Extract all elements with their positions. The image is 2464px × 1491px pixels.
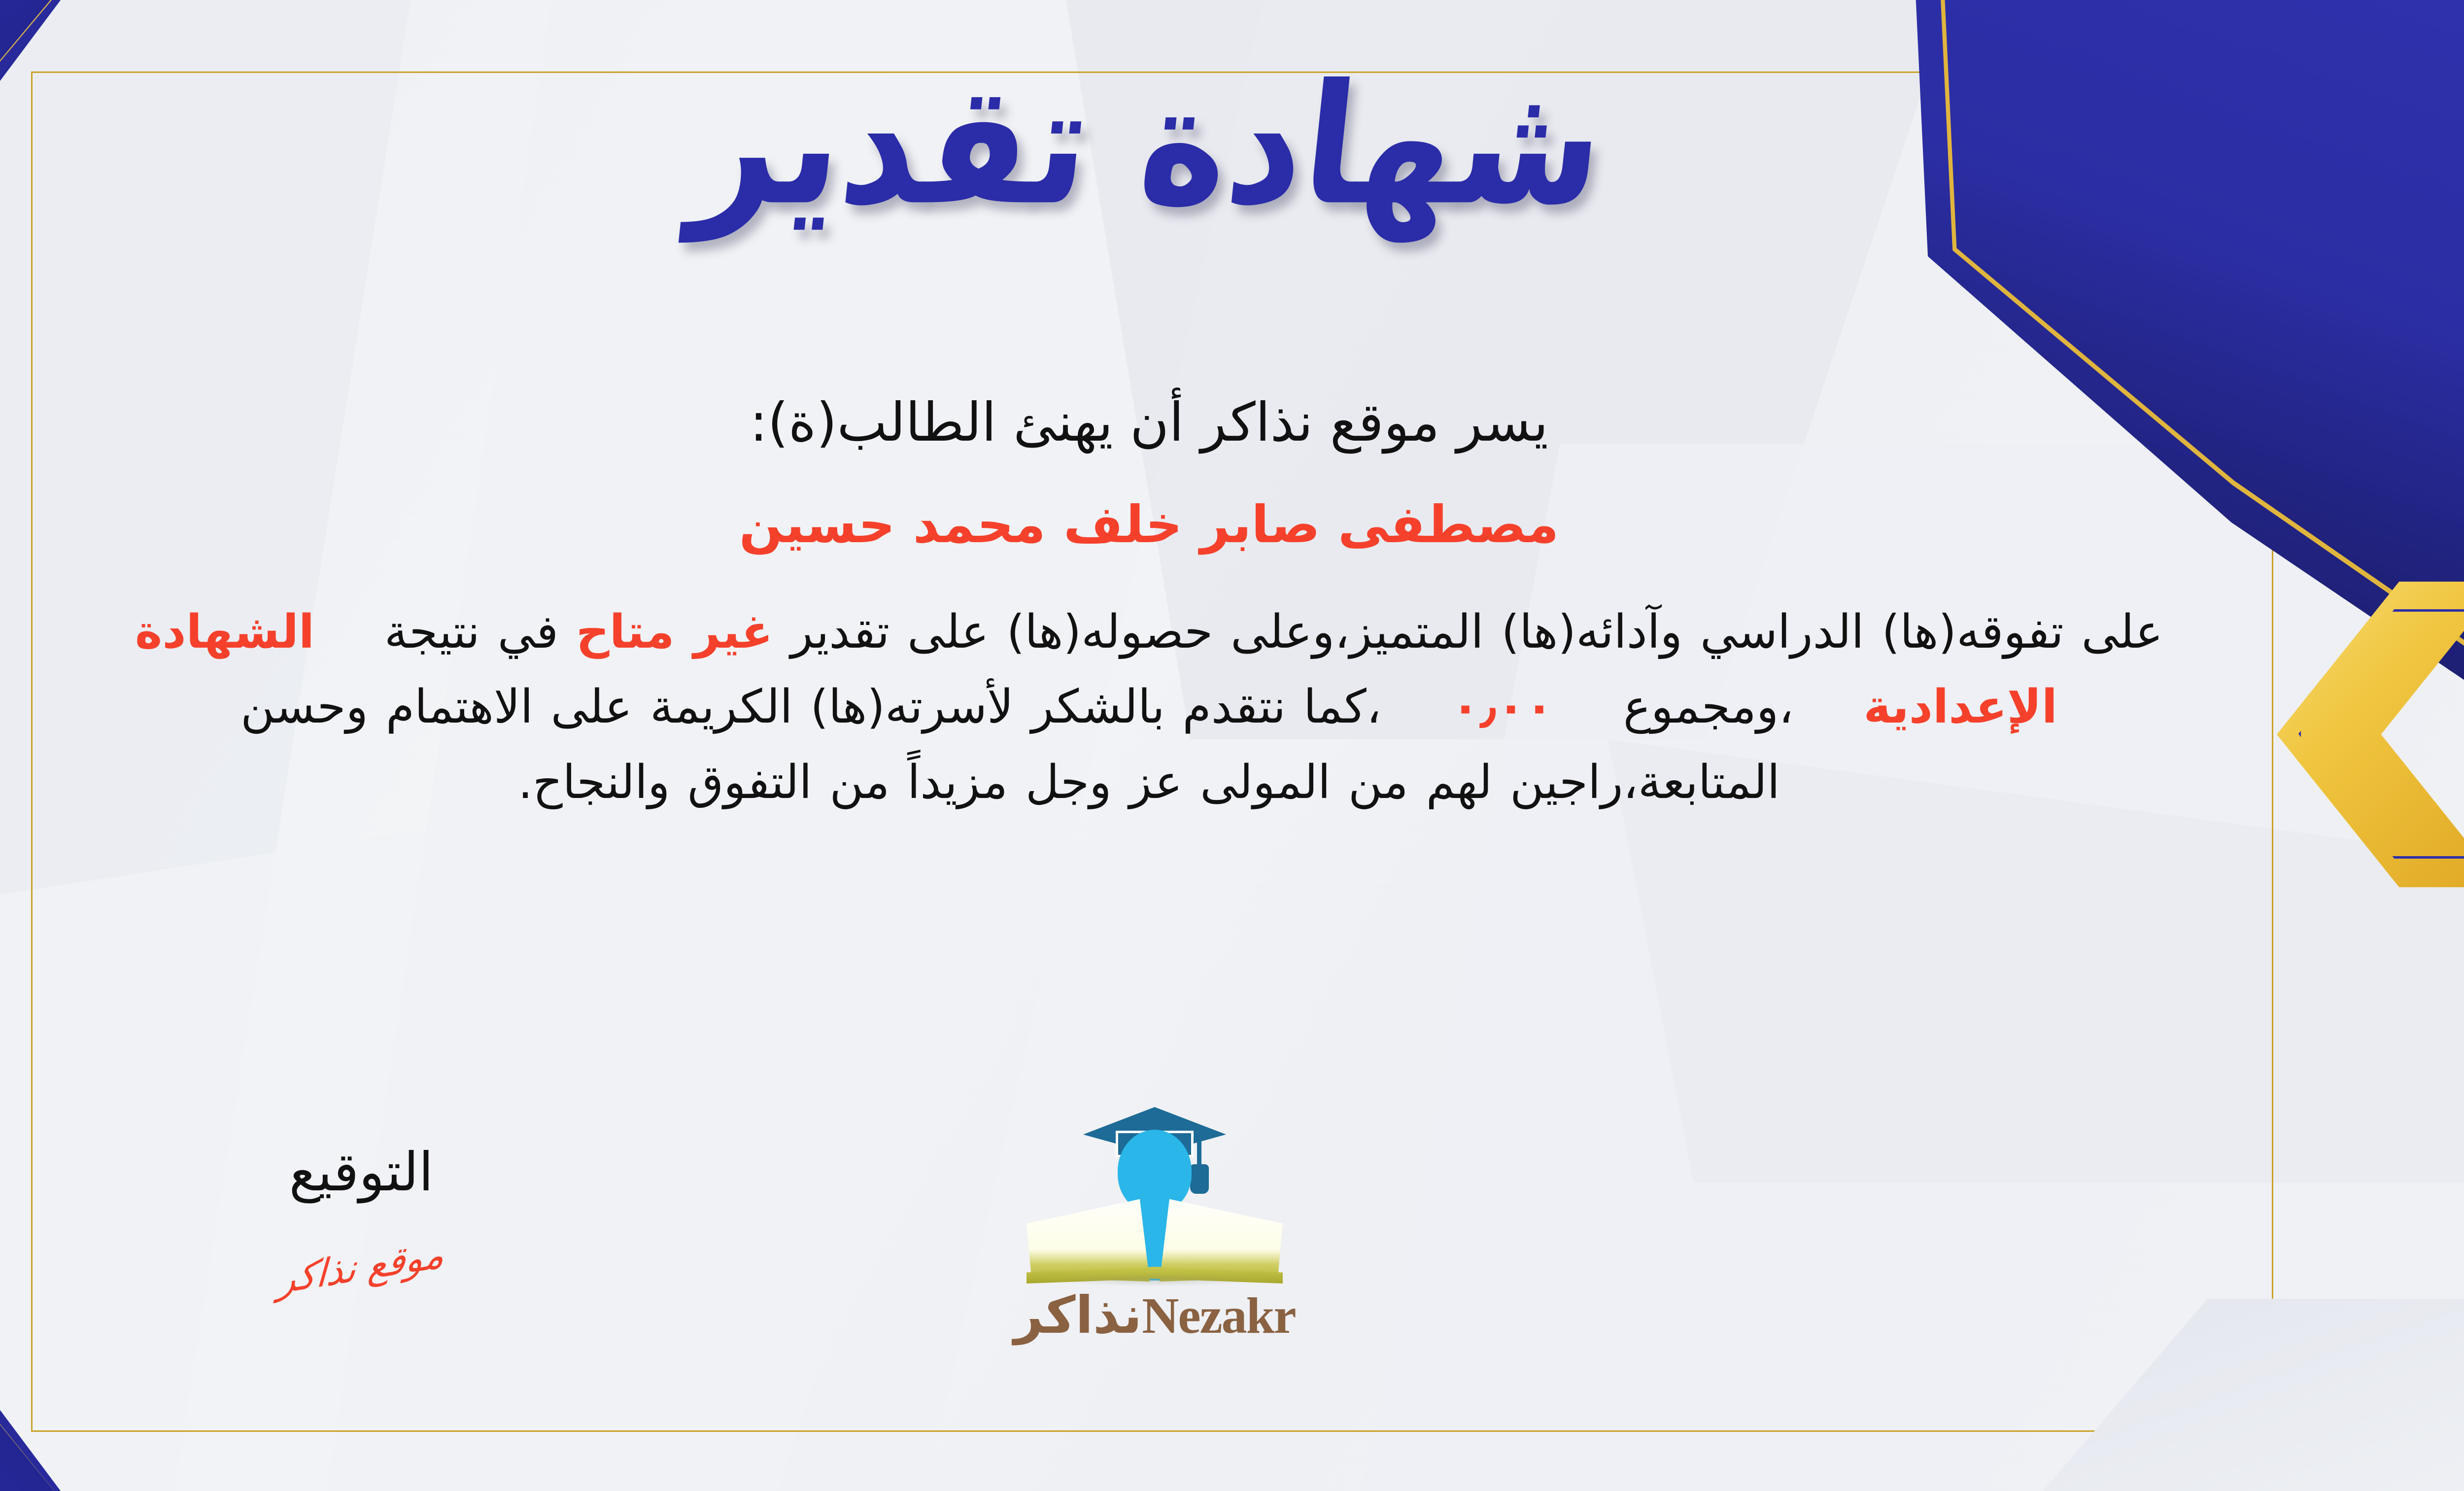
greeting-line: يسر موقع نذاكر أن يهنئ الطالب(ة): xyxy=(110,389,2188,456)
bottom-left-chevron-decoration xyxy=(0,1235,75,1491)
right-gold-chevron-decoration xyxy=(2277,582,2464,887)
citation-part-1: على تفوقه(ها) الدراسي وآدائه(ها) المتميز… xyxy=(790,605,2163,659)
certificate-title-area: شهادة تقدير xyxy=(0,64,2464,227)
brand-logo: Nezakrنذاكر xyxy=(967,1124,1342,1342)
signature-block: التوقيع موقع نذاكر xyxy=(208,1144,514,1287)
citation-paragraph: على تفوقه(ها) الدراسي وآدائه(ها) المتميز… xyxy=(110,595,2188,820)
certificate-body: يسر موقع نذاكر أن يهنئ الطالب(ة): مصطفى … xyxy=(110,389,2188,820)
logo-wordmark-arabic: نذاكر xyxy=(1014,1285,1142,1345)
graduate-on-book-icon xyxy=(1017,1124,1293,1286)
bottom-right-wedge-decoration xyxy=(2030,1299,2464,1491)
open-book-icon xyxy=(1027,1183,1283,1282)
book-shadow xyxy=(1051,1274,1258,1286)
citation-part-2: في نتيجة xyxy=(384,605,558,659)
book-page-left xyxy=(1027,1188,1150,1282)
wedge-shape xyxy=(2030,1299,2464,1491)
certificate-canvas: شهادة تقدير يسر موقع نذاكر أن يهنئ الطال… xyxy=(0,0,2464,1491)
logo-wordmark-latin: Nezakr xyxy=(1142,1290,1295,1342)
signature-label: التوقيع xyxy=(208,1144,514,1202)
grade-value: غير متاح xyxy=(576,605,773,659)
citation-part-3: ،ومجموع xyxy=(1623,680,1794,734)
book-page-right xyxy=(1160,1188,1283,1282)
student-name: مصطفى صابر خلف محمد حسين xyxy=(110,492,2188,556)
total-score-value: ٠٫٠٠ xyxy=(1451,680,1553,734)
page-title: شهادة تقدير xyxy=(685,54,1612,237)
logo-wordmark: Nezakrنذاكر xyxy=(967,1289,1342,1342)
